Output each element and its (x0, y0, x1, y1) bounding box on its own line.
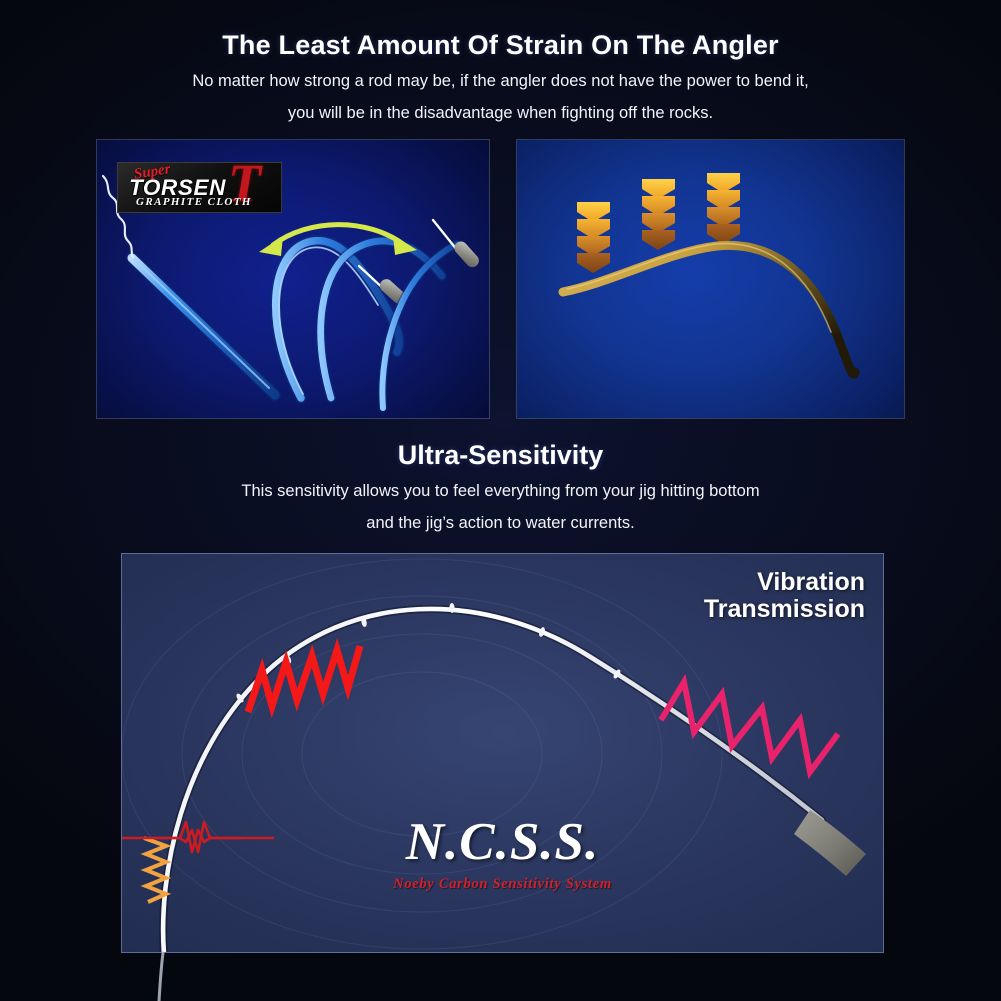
power-chevrons-panel (516, 139, 905, 419)
sensitivity-subtitle-line-1: This sensitivity allows you to feel ever… (0, 471, 1001, 503)
chevron-stack-1 (577, 202, 610, 273)
chevron-stack-3 (707, 173, 740, 244)
chevron-stack-2 (642, 179, 675, 250)
vibration-label-line-2: Transmission (704, 596, 865, 623)
strain-panel-row: T Super TORSEN GRAPHITE CLOTH (0, 139, 1001, 419)
page-title: The Least Amount Of Strain On The Angler (0, 0, 1001, 61)
power-chevron-illustration (517, 140, 905, 419)
sensitivity-title: Ultra-Sensitivity (0, 432, 1001, 471)
sensitivity-section-header: Ultra-Sensitivity This sensitivity allow… (0, 432, 1001, 536)
straight-rod (132, 258, 275, 395)
rod-bend-comparison-panel: T Super TORSEN GRAPHITE CLOTH (96, 139, 490, 419)
rod-bent-right (382, 244, 457, 408)
vibration-label-line-1: Vibration (704, 569, 865, 596)
strain-subtitle-line-2: you will be in the disadvantage when fig… (0, 93, 1001, 125)
vibration-transmission-panel: Vibration Transmission N.C.S.S. Noeby Ca… (121, 553, 884, 953)
torsen-material-text: GRAPHITE CLOTH (136, 196, 252, 208)
strain-subtitle-line-1: No matter how strong a rod may be, if th… (0, 61, 1001, 93)
sensitivity-subtitle-line-2: and the jig’s action to water currents. (0, 503, 1001, 535)
torsen-brand-badge: T Super TORSEN GRAPHITE CLOTH (117, 162, 282, 213)
strain-section-header: The Least Amount Of Strain On The Angler… (0, 0, 1001, 126)
page-root: The Least Amount Of Strain On The Angler… (0, 0, 1001, 1001)
vibration-transmission-label: Vibration Transmission (704, 569, 865, 623)
